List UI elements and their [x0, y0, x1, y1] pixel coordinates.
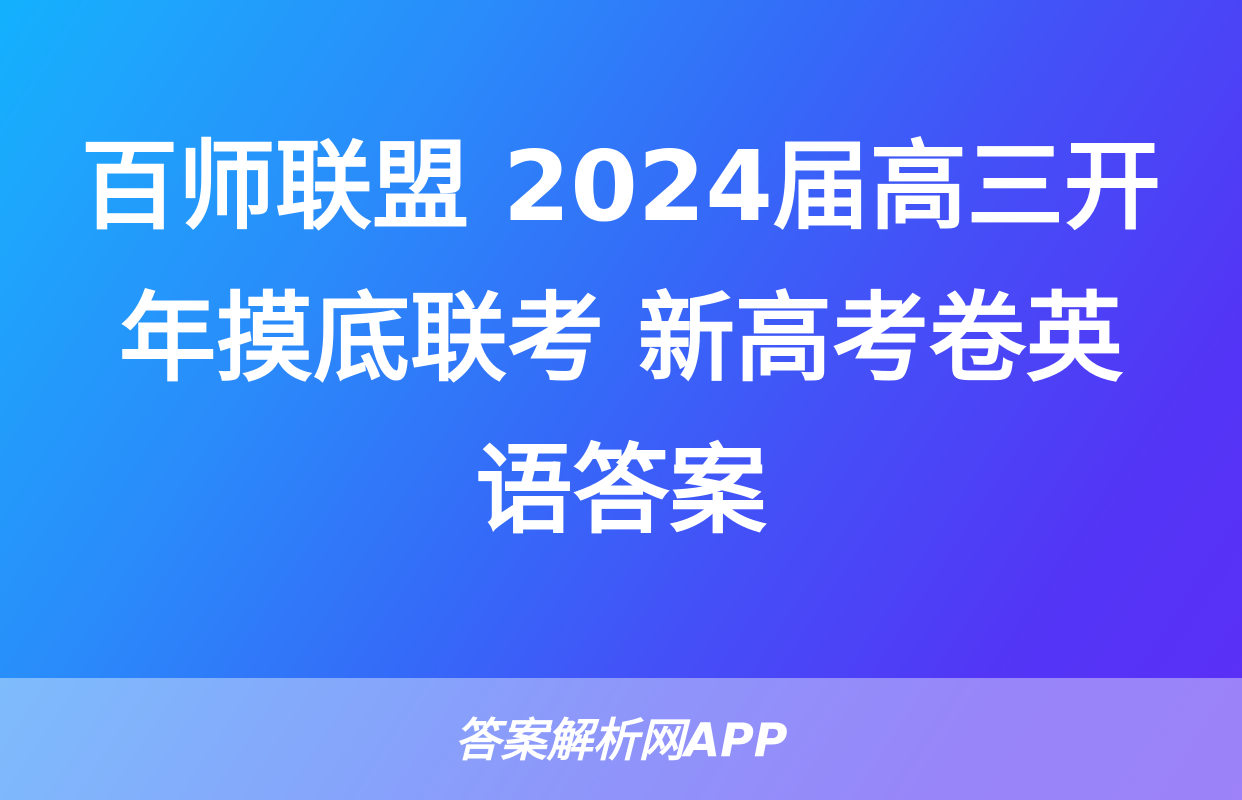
- footer-watermark-band: 答案解析网APP: [0, 678, 1242, 800]
- app-watermark-label: 答案解析网APP: [454, 717, 787, 763]
- promo-banner: 百师联盟 2024届高三开年摸底联考 新高考卷英语答案 答案解析网APP: [0, 0, 1242, 800]
- banner-title-area: 百师联盟 2024届高三开年摸底联考 新高考卷英语答案: [0, 0, 1242, 678]
- page-title: 百师联盟 2024届高三开年摸底联考 新高考卷英语答案: [81, 111, 1161, 567]
